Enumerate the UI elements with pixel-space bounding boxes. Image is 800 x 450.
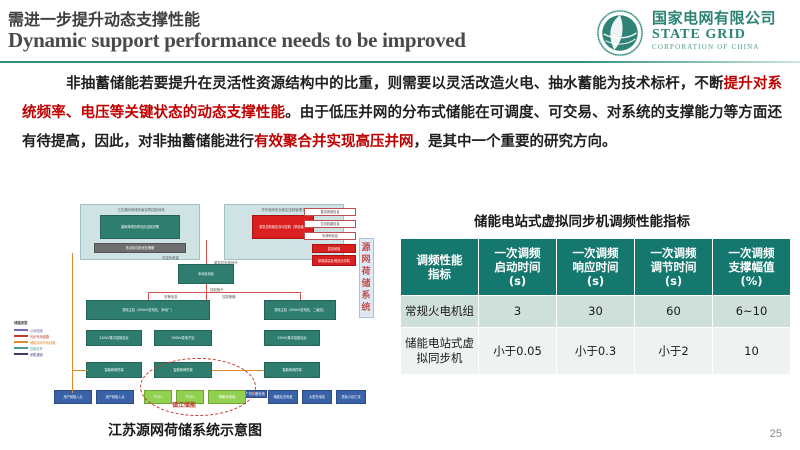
diagram-note-3: 告警信息 (164, 294, 178, 299)
diagram-box-smart-terminal-1: 智能网荷终端 (86, 362, 142, 378)
diagram-box-substation-main-a: 变电主站（500kV变电站、本地厂） (86, 300, 210, 320)
diagram-caption: 江苏源网荷储系统示意图 (108, 420, 262, 440)
diagram-box-dc-info: 直流闭锁信息 (304, 208, 356, 216)
header-divider (0, 61, 800, 63)
legend-label-storage-line: 储能并网专用线路 (30, 340, 56, 345)
diagram-box-substation-main-b: 变电主站（500kV变电站、二级站） (264, 300, 336, 320)
diagram-box-load-info: 负荷侧信息 (304, 232, 356, 240)
diagram-box-left-green: 源网荷储协同优化控制决策 (100, 215, 180, 239)
table-header-regulation-time: 一次调频 调节时间 (s) (635, 239, 713, 296)
table-cell: 30 (557, 296, 635, 328)
diagram-box-user-access-2: 用户侧接入点 (96, 390, 134, 404)
diagram-connector-branch-left (148, 292, 149, 300)
logo-company-cn: 国家电网有限公司 (652, 10, 776, 27)
diagram-box-sub-child-3: 220kV集中控制站点 (264, 330, 320, 346)
diagram-legend: 线路类型 公网线路 光伏专用线路 储能并网专用线路 控制信号 采集通道 (14, 320, 62, 357)
table-row-label-thermal: 常规火电机组 (401, 296, 479, 328)
paragraph-segment-1: 非抽蓄储能若要提升在灵活性资源结构中的比重，则需要以灵活改造火电、抽水蓄能为技术… (66, 76, 724, 92)
paragraph-segment-3: ，是其中一个重要的研究方向。 (414, 134, 617, 150)
diagram-box-user-access-1: 用户侧接入点 (54, 390, 92, 404)
diagram-box-load-2: 储能站充电桩 (268, 390, 298, 404)
diagram-box-sub-child-1: 220kV集中控制站点 (86, 330, 142, 346)
diagram-note-2: 控制指令 (210, 287, 224, 292)
diagram-box-load-3: 大型充电站 (302, 390, 332, 404)
diagram-box-local-automation: 本地自动化 (178, 264, 234, 284)
diagram-panel-left-title: 江苏源网荷储多级协同控制体系 (86, 207, 196, 212)
storage-highlight-ring (140, 358, 256, 416)
diagram-connector-vertical-left (72, 253, 73, 393)
vertical-system-label: 源 网 荷 储 系 统 (359, 238, 374, 318)
logo-text-block: 国家电网有限公司 STATE GRID CORPORATION OF CHINA (652, 10, 776, 52)
slide-header: 需进一步提升动态支撑性能 Dynamic support performance… (0, 0, 800, 62)
legend-title: 线路类型 (14, 320, 62, 325)
diagram-note-5: 紧急切负荷指令 (214, 260, 238, 265)
performance-metrics-table: 调频性能 指标 一次调频 启动时间 (s) 一次调频 响应时间 (s) 一次调频… (400, 238, 791, 375)
logo-company-en: STATE GRID (652, 27, 776, 43)
diagram-box-sub-child-2: 500kV变电子站 (154, 330, 212, 346)
diagram-box-smart-terminal-3: 智能网荷终端 (264, 362, 320, 378)
table-row: 常规火电机组 3 30 60 6~10 (401, 296, 791, 328)
table-header-row: 调频性能 指标 一次调频 启动时间 (s) 一次调频 响应时间 (s) 一次调频… (401, 239, 791, 296)
source-grid-load-storage-diagram: 江苏源网荷储多级协同控制体系 源网荷储协同优化控制决策 多目标动态优化策略 华东… (12, 198, 380, 418)
legend-swatch-control-signal (14, 347, 28, 348)
logo-company-sub-en: CORPORATION OF CHINA (652, 43, 776, 52)
diagram-note-4: 控制策略 (222, 294, 236, 299)
diagram-box-renewable-cut: 新能源高比例送出切机 (312, 255, 356, 266)
table-cell: 3 (479, 296, 557, 328)
table-row: 储能电站式虚拟同步机 小于0.05 小于0.3 小于2 10 (401, 328, 791, 375)
diagram-note-1: 可控负荷量 (162, 255, 179, 260)
legend-label-public-line: 公网线路 (30, 328, 43, 333)
page-number: 25 (770, 428, 782, 440)
table-cell: 小于0.05 (479, 328, 557, 375)
table-header-start-time: 一次调频 启动时间 (s) (479, 239, 557, 296)
vertical-char-4: 系 (361, 290, 372, 302)
table-cell: 60 (635, 296, 713, 328)
diagram-connector-branch (148, 292, 300, 293)
table-cell: 小于2 (635, 328, 713, 375)
table-header-response-time: 一次调频 响应时间 (s) (557, 239, 635, 296)
state-grid-logo: 国家电网有限公司 STATE GRID CORPORATION OF CHINA (596, 8, 796, 58)
paragraph-highlight-2: 有效聚合并实现高压并网 (254, 134, 414, 150)
table-row-label-vsg: 储能电站式虚拟同步机 (401, 328, 479, 375)
page-title-zh: 需进一步提升动态支撑性能 (8, 6, 200, 30)
vertical-char-1: 网 (361, 254, 372, 266)
diagram-box-load-4: 居民小区汇流 (336, 390, 366, 404)
diagram-connector-branch-right (300, 292, 301, 300)
legend-swatch-acquisition (14, 353, 28, 354)
table-title: 储能电站式虚拟同步机调频性能指标 (474, 210, 690, 230)
table-cell: 10 (713, 328, 791, 375)
table-header-support-amplitude: 一次调频 支撑幅值 (%) (713, 239, 791, 296)
legend-label-acquisition: 采集通道 (30, 352, 43, 357)
legend-swatch-pv-line (14, 335, 28, 336)
legend-label-pv-line: 光伏专用线路 (30, 334, 49, 339)
diagram-connector-horizontal-left (72, 370, 88, 371)
body-paragraph: 非抽蓄储能若要提升在灵活性资源结构中的比重，则需要以灵活改造火电、抽水蓄能为技术… (22, 70, 782, 157)
diagram-connector-vertical-center (206, 240, 207, 264)
vertical-char-3: 储 (361, 278, 372, 290)
diagram-box-dc-blocking: 直流闭锁 (312, 244, 356, 253)
storage-ring-label: 镇江储能 (172, 400, 196, 409)
table-cell: 小于0.3 (557, 328, 635, 375)
legend-swatch-storage-line (14, 341, 28, 342)
legend-label-control-signal: 控制信号 (30, 346, 43, 351)
vertical-char-2: 荷 (361, 266, 372, 278)
diagram-box-left-gray: 多目标动态优化策略 (94, 243, 186, 253)
table-cell: 6~10 (713, 296, 791, 328)
vertical-char-0: 源 (361, 242, 372, 254)
vertical-char-5: 统 (361, 302, 372, 314)
legend-item: 采集通道 (14, 351, 62, 357)
state-grid-globe-icon (596, 9, 644, 57)
page-title-en: Dynamic support performance needs to be … (8, 28, 466, 53)
diagram-box-ac-info: 交流线路信息 (304, 220, 356, 228)
table-header-metric: 调频性能 指标 (401, 239, 479, 296)
legend-swatch-public-line (14, 329, 28, 330)
